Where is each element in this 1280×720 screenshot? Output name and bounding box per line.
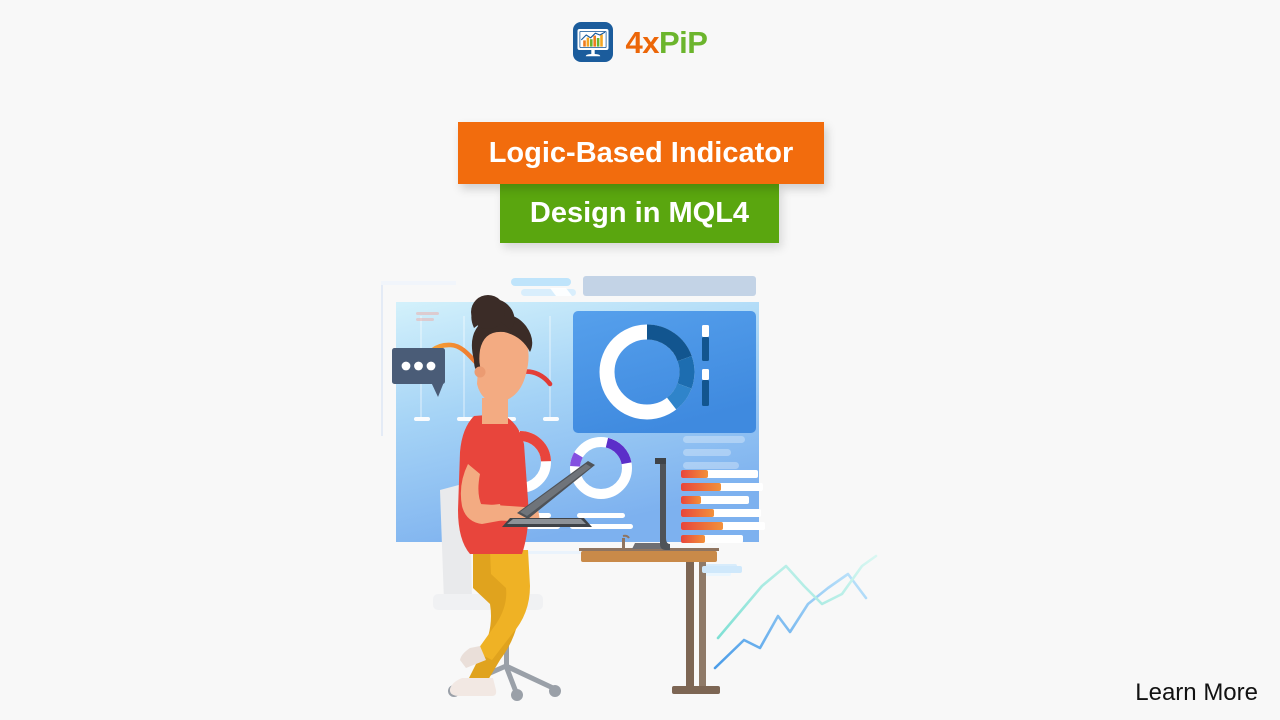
trend-label-chip <box>702 566 742 573</box>
standing-desk <box>579 536 720 694</box>
donut-card <box>573 311 756 433</box>
title-banner-line2: Design in MQL4 <box>500 184 779 243</box>
analytics-workspace-illustration <box>370 268 880 720</box>
brand-name-part1: 4x <box>626 25 659 60</box>
brand-name: 4xPiP <box>626 27 708 58</box>
top-accent-bars <box>511 276 756 296</box>
learn-more-link[interactable]: Learn More <box>1135 679 1258 707</box>
hero-illustration <box>370 268 880 720</box>
page-root: 4xPiP Logic-Based Indicator Design in MQ… <box>0 0 1280 720</box>
brand-header: 4xPiP <box>0 22 1280 62</box>
monitor-bar-chart-icon <box>573 22 613 62</box>
title-banner-line1: Logic-Based Indicator <box>458 122 824 184</box>
brand-name-part2: PiP <box>659 25 707 60</box>
